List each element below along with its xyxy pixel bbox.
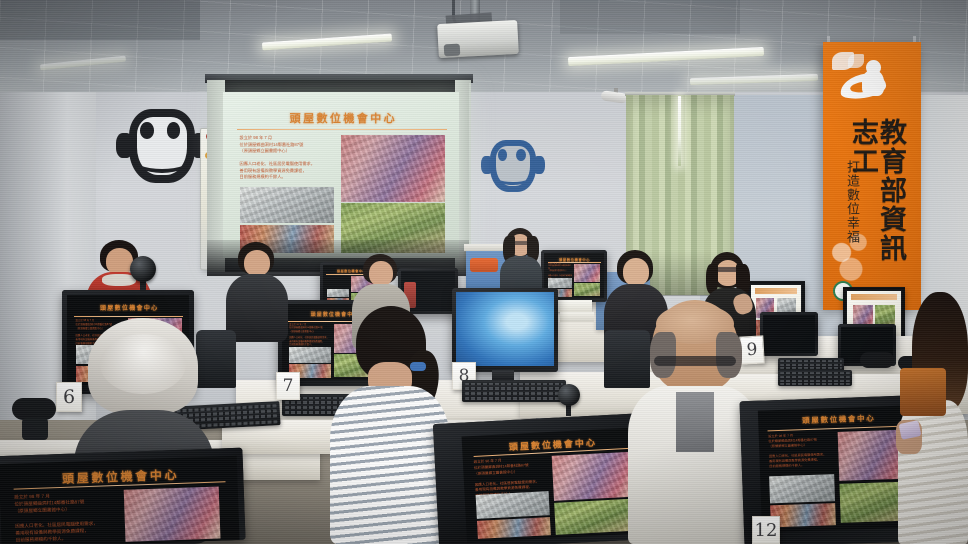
monitor-slide-text: 設立於 98 年 7 月 位於頭屋鄉曲洞村14鄰番社路87號 （原頭屋鄉立圖書館… [768, 432, 836, 469]
hair-highlight [100, 334, 186, 394]
eyeglasses-icon [654, 356, 736, 366]
monitor [452, 288, 558, 372]
monitor-screen [763, 315, 815, 353]
banner-sub-text: 打造數位幸福 [838, 160, 858, 266]
handbag [900, 368, 946, 416]
headset[interactable] [860, 352, 894, 368]
webcam-icon[interactable] [558, 384, 580, 406]
monitor-stand [492, 370, 514, 380]
monitor-slide-title: 頭屋數位機會中心 [549, 257, 601, 262]
monitor [760, 312, 818, 356]
monitor-slide-text: 設立於 98 年 7 月 位於頭屋鄉曲洞村14鄰番社路87號 （原頭屋鄉立圖書館… [289, 324, 331, 348]
monitor: 頭屋數位機會中心 設立於 98 年 7 月 位於頭屋鄉曲洞村14鄰番社路87號 … [0, 448, 246, 544]
projector-lens [444, 44, 461, 57]
person-participant-stripe [330, 306, 450, 544]
person-participant-phone [896, 292, 968, 544]
banner-main-text: 教育部資訊志工 [862, 118, 904, 286]
keyboard[interactable] [462, 380, 566, 402]
shirt-placket [676, 392, 714, 452]
monitor-screen [456, 292, 554, 366]
headset[interactable] [12, 398, 56, 420]
smiley-face-decal-right [481, 136, 545, 196]
monitor-slide-title: 頭屋數位機會中心 [77, 303, 182, 312]
monitor-screen: 頭屋數位機會中心 設立於 98 年 7 月 位於頭屋鄉曲洞村14鄰番社路87號 … [462, 427, 645, 542]
desk-number-card-12: 12 [752, 516, 780, 544]
projected-slide: 頭屋數位機會中心 設立於 98 年 7 月 位於頭屋鄉曲洞村14鄰番社路87號 … [223, 92, 459, 258]
papers-on-desk [556, 300, 592, 312]
ceiling-tile-dark [0, 0, 200, 40]
hair-tie [410, 362, 426, 371]
slide-photo-storefront [240, 187, 334, 224]
keyboard[interactable] [778, 370, 852, 386]
hair-side [650, 332, 676, 378]
webcam-icon[interactable] [130, 256, 156, 282]
orange-object-on-partition [470, 258, 498, 272]
hair-side [716, 332, 742, 378]
shirt-collar [102, 274, 136, 286]
headset-earcup [22, 418, 48, 440]
slide-title: 頭屋數位機會中心 [242, 110, 445, 126]
ceiling-tile-dark [560, 0, 740, 34]
slide-body-text: 設立於 98 年 7 月 位於頭屋鄉曲洞村14鄰番社路87號 （原頭屋鄉立圖書館… [240, 135, 334, 181]
papers-on-desk [560, 312, 594, 322]
banner-logo-icon [832, 52, 890, 112]
desk-number-card-7: 7 [276, 372, 300, 400]
monitor-screen: 頭屋數位機會中心 設立於 98 年 7 月 位於頭屋鄉曲洞村14鄰番社路87號 … [0, 456, 240, 544]
monitor-slide-text: 設立於 98 年 7 月 位於頭屋鄉曲洞村14鄰番社路87號 （原頭屋鄉立圖書館… [14, 490, 116, 543]
person-participant-dark [226, 242, 288, 342]
curtain-light-gap [678, 96, 681, 166]
slide-photo-ceremony [341, 135, 445, 201]
classroom-photo: WIFI 教育部資訊志工 打造數位幸福 頭屋數位機會中心 設立於 98 [0, 0, 968, 544]
smiley-face-decal-left [116, 104, 208, 188]
